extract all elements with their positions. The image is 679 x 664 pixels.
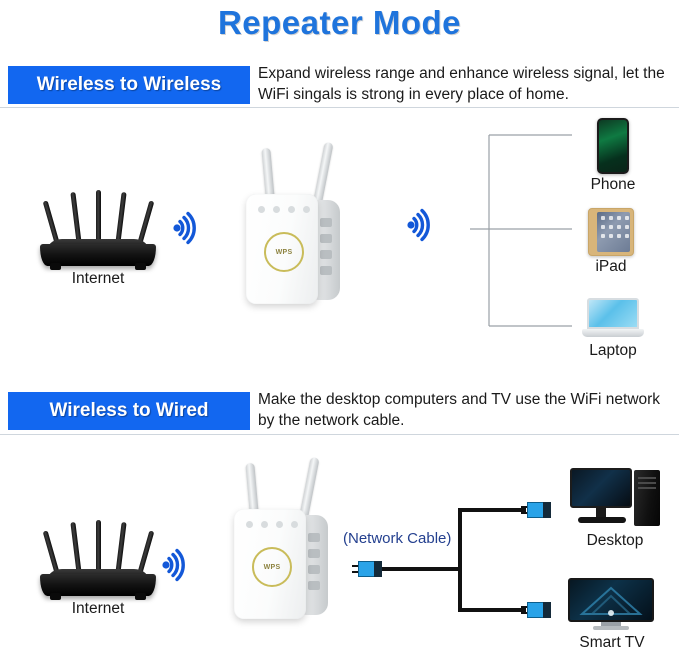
device-label-ipad: iPad <box>531 258 679 276</box>
television-icon <box>568 578 654 632</box>
device-label-phone: Phone <box>533 176 679 194</box>
smartphone-icon <box>597 118 629 174</box>
wifi-signal-icon-1 <box>168 208 208 248</box>
section-header-wireless-to-wireless: Wireless to Wireless Expand wireless ran… <box>0 66 679 110</box>
cable-branch-lower <box>458 608 526 612</box>
device-label-laptop: Laptop <box>533 342 679 360</box>
section-badge-wireless-to-wired: Wireless to Wired <box>8 392 250 430</box>
cable-branch-upper <box>458 508 526 512</box>
section-badge-wireless-to-wireless: Wireless to Wireless <box>8 66 250 104</box>
section-divider-bottom <box>0 434 679 435</box>
cable-vertical-split <box>458 508 462 612</box>
section-header-wireless-to-wired: Wireless to Wired Make the desktop compu… <box>0 392 679 436</box>
page-title: Repeater Mode <box>0 0 679 46</box>
desktop-computer-icon <box>570 468 662 530</box>
rj45-connector-extender <box>352 561 382 577</box>
wps-button-2[interactable]: WPS <box>252 547 292 587</box>
device-label-smart-tv: Smart TV <box>532 634 679 652</box>
section-description-wireless-to-wireless: Expand wireless range and enhance wirele… <box>258 63 676 105</box>
device-label-internet-1: Internet <box>18 270 178 288</box>
wifi-signal-icon-3 <box>157 545 197 585</box>
cable-trunk <box>382 567 462 571</box>
rj45-connector-tv <box>521 602 551 618</box>
tablet-icon <box>588 208 634 256</box>
network-cable-label: (Network Cable) <box>343 530 451 547</box>
rj45-connector-desktop <box>521 502 551 518</box>
wifi-extender-illustration-1: WPS <box>240 140 350 315</box>
section-divider-top <box>0 107 679 108</box>
device-label-internet-2: Internet <box>18 600 178 618</box>
section-description-wireless-to-wired: Make the desktop computers and TV use th… <box>258 389 676 431</box>
connection-bracket-1 <box>465 128 575 333</box>
wifi-signal-icon-2 <box>402 205 442 245</box>
device-label-desktop: Desktop <box>535 532 679 550</box>
wifi-extender-illustration-2: WPS <box>228 455 338 630</box>
wps-button-1[interactable]: WPS <box>264 232 304 272</box>
laptop-icon <box>582 298 644 340</box>
